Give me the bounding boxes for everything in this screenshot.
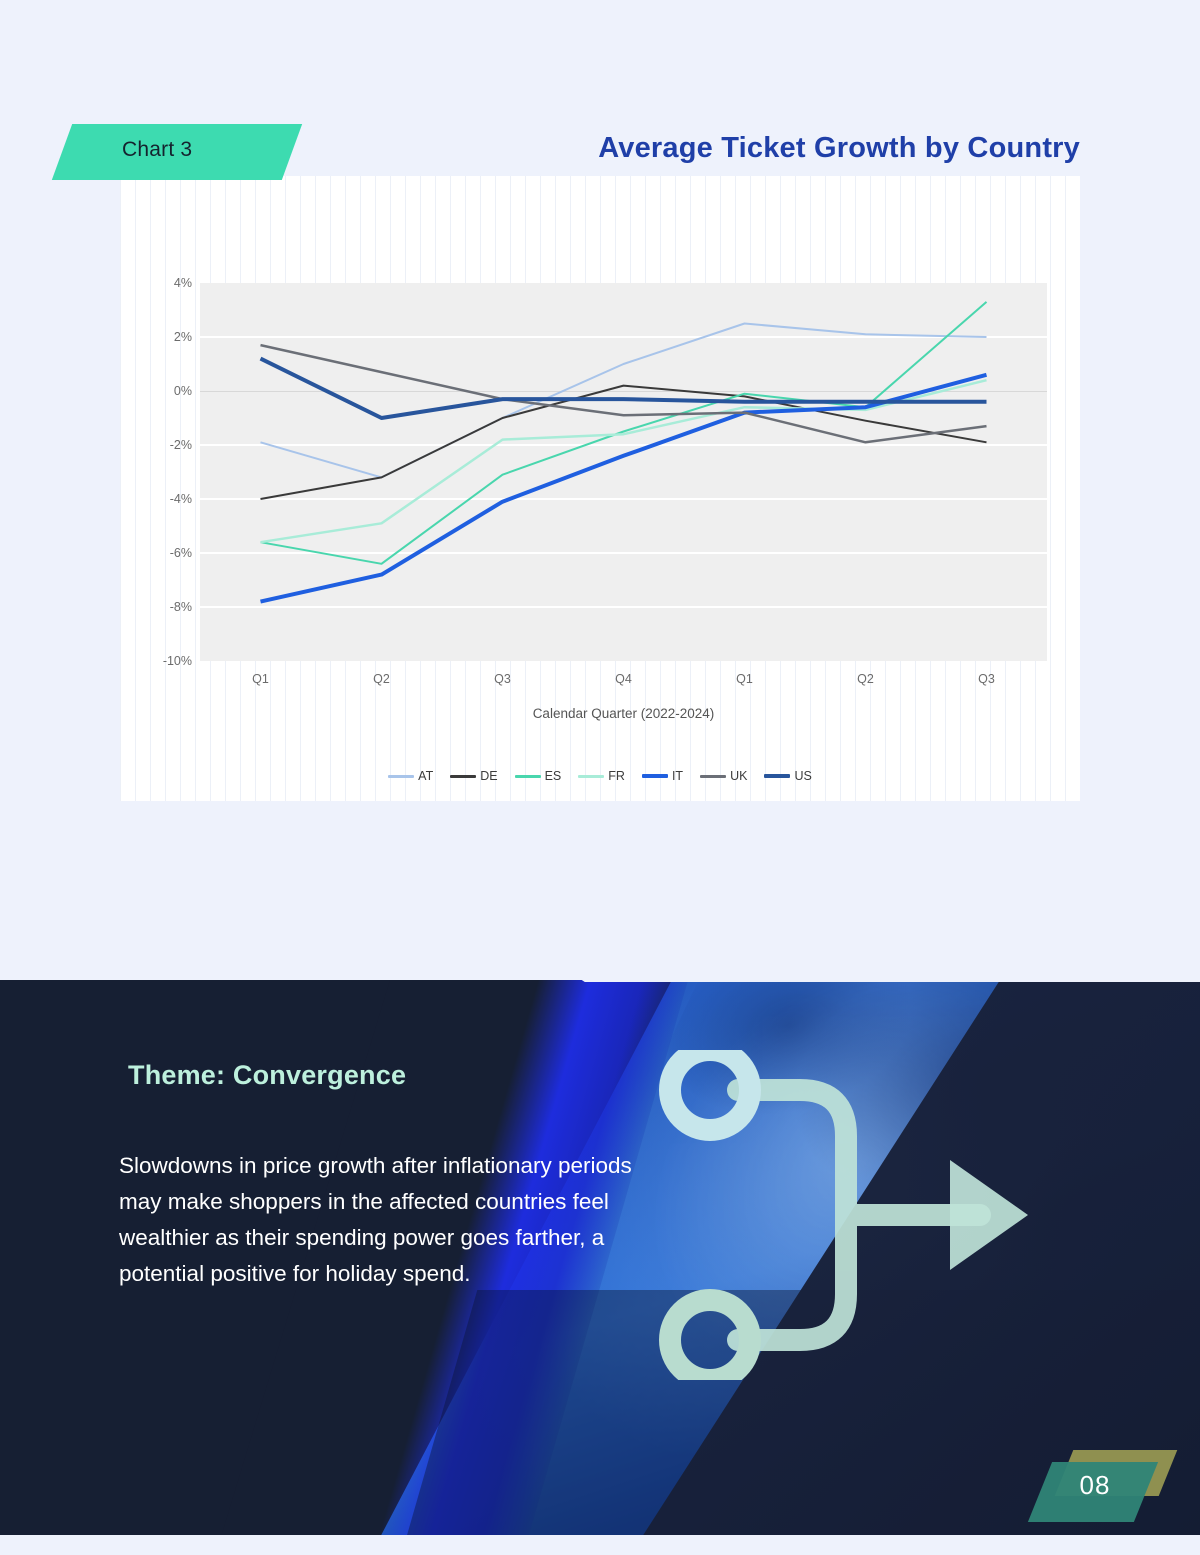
y-axis-tick-label: -10%: [163, 654, 192, 668]
x-axis-tick-label: Q3: [978, 672, 995, 686]
y-axis-tick-label: -2%: [170, 438, 192, 452]
legend-label: FR: [608, 769, 625, 783]
convergence-merge-arrow-icon: [650, 1050, 1050, 1380]
legend-label: ES: [545, 769, 562, 783]
legend-item-de[interactable]: DE: [450, 769, 497, 783]
legend-item-it[interactable]: IT: [642, 769, 683, 783]
legend-label: US: [794, 769, 811, 783]
x-axis-tick-label: Q2: [857, 672, 874, 686]
theme-body-text: Slowdowns in price growth after inflatio…: [119, 1148, 649, 1292]
chart-legend: ATDEESFRITUKUS: [120, 769, 1080, 783]
y-axis-tick-label: -4%: [170, 492, 192, 506]
legend-swatch-de: [450, 775, 476, 778]
x-axis-tick-label: Q3: [494, 672, 511, 686]
page-number-badge: 08: [1028, 1448, 1188, 1528]
x-axis-tick-label: Q4: [615, 672, 632, 686]
legend-swatch-es: [515, 775, 541, 778]
legend-swatch-fr: [578, 775, 604, 778]
legend-swatch-uk: [700, 775, 726, 778]
legend-label: IT: [672, 769, 683, 783]
series-line-us: [261, 359, 987, 418]
x-axis-tick-label: Q1: [252, 672, 269, 686]
legend-item-at[interactable]: AT: [388, 769, 433, 783]
legend-item-fr[interactable]: FR: [578, 769, 625, 783]
y-axis-tick-label: 4%: [174, 276, 192, 290]
x-axis-title: Calendar Quarter (2022-2024): [200, 706, 1047, 721]
legend-label: AT: [418, 769, 433, 783]
y-axis: 4%2%0%-2%-4%-6%-8%-10%: [120, 283, 192, 661]
chart-card: 4%2%0%-2%-4%-6%-8%-10% Q1Q2Q3Q4Q1Q2Q3 Ca…: [120, 176, 1080, 801]
x-axis-tick-label: Q1: [736, 672, 753, 686]
x-axis-tick-label: Q2: [373, 672, 390, 686]
theme-heading: Theme: Convergence: [128, 1060, 406, 1091]
series-line-it: [261, 375, 987, 602]
plot-area: [200, 283, 1047, 661]
legend-label: DE: [480, 769, 497, 783]
legend-item-us[interactable]: US: [764, 769, 811, 783]
chart-badge-label: Chart 3: [122, 138, 192, 162]
top-diagonal-cut: [417, 980, 1200, 982]
x-axis: Q1Q2Q3Q4Q1Q2Q3: [200, 672, 1047, 692]
y-axis-tick-label: -8%: [170, 600, 192, 614]
legend-swatch-us: [764, 774, 790, 778]
y-axis-tick-label: 0%: [174, 384, 192, 398]
legend-swatch-it: [642, 774, 668, 778]
legend-swatch-at: [388, 775, 414, 778]
y-axis-tick-label: -6%: [170, 546, 192, 560]
page-number: 08: [1028, 1470, 1162, 1501]
series-lines: [200, 283, 1047, 661]
legend-label: UK: [730, 769, 747, 783]
legend-item-uk[interactable]: UK: [700, 769, 747, 783]
y-axis-tick-label: 2%: [174, 330, 192, 344]
arrow-head-icon: [950, 1160, 1028, 1270]
chart-section: Chart 3 Average Ticket Growth by Country…: [0, 0, 1200, 980]
legend-item-es[interactable]: ES: [515, 769, 562, 783]
series-line-uk: [261, 345, 987, 442]
